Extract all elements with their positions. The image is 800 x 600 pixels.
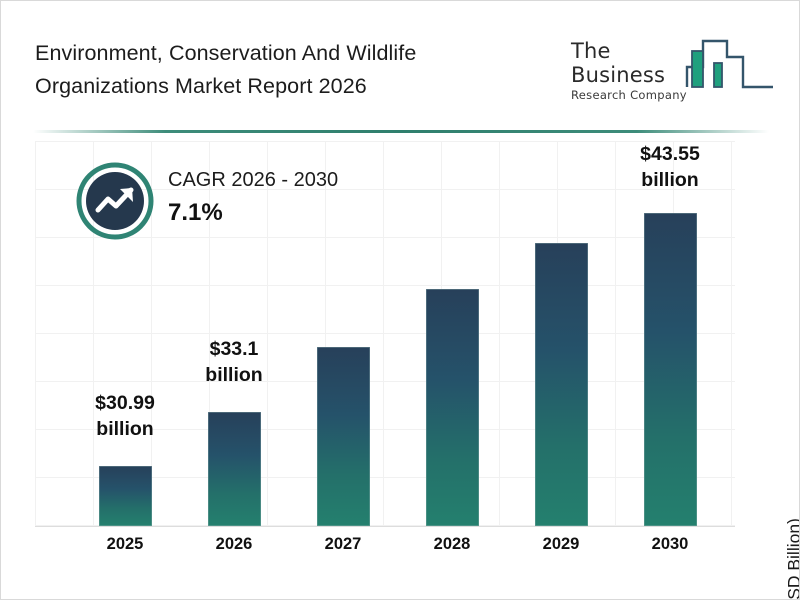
cagr-callout: CAGR 2026 - 2030 7.1% [76,156,396,246]
bar-2025[interactable] [99,466,152,526]
value-label-2025-unit: billion [50,416,200,442]
xtick-2027: 2027 [283,535,403,554]
chart-canvas: Environment, Conservation And Wildlife O… [0,0,800,600]
trend-up-arrow-icon [76,162,154,240]
xtick-2026: 2026 [174,535,294,554]
bar-2029[interactable] [535,243,588,526]
cagr-label: CAGR 2026 - 2030 [168,166,338,194]
value-label-2026-amount: $33.1 [159,336,309,362]
y-axis-title: Market Size (in USD Billion) [784,434,800,600]
value-label-2030-unit: billion [595,167,745,193]
xtick-2025: 2025 [65,535,185,554]
bar-2028[interactable] [426,289,479,526]
value-label-2025: $30.99 billion [50,390,200,442]
value-label-2025-amount: $30.99 [50,390,200,416]
value-label-2030-amount: $43.55 [595,141,745,167]
bar-2027[interactable] [317,347,370,526]
xtick-2029: 2029 [501,535,621,554]
value-label-2030: $43.55 billion [595,141,745,193]
value-label-2026-unit: billion [159,362,309,388]
bars-layer [1,1,800,526]
value-label-2026: $33.1 billion [159,336,309,388]
xtick-2030: 2030 [610,535,730,554]
cagr-text-block: CAGR 2026 - 2030 7.1% [168,166,338,230]
xtick-2028: 2028 [392,535,512,554]
axis-baseline [35,526,735,527]
bar-2026[interactable] [208,412,261,526]
y-axis-title-wrap: Market Size (in USD Billion) [780,219,781,220]
cagr-value: 7.1% [168,196,338,230]
bar-2030[interactable] [644,213,697,526]
